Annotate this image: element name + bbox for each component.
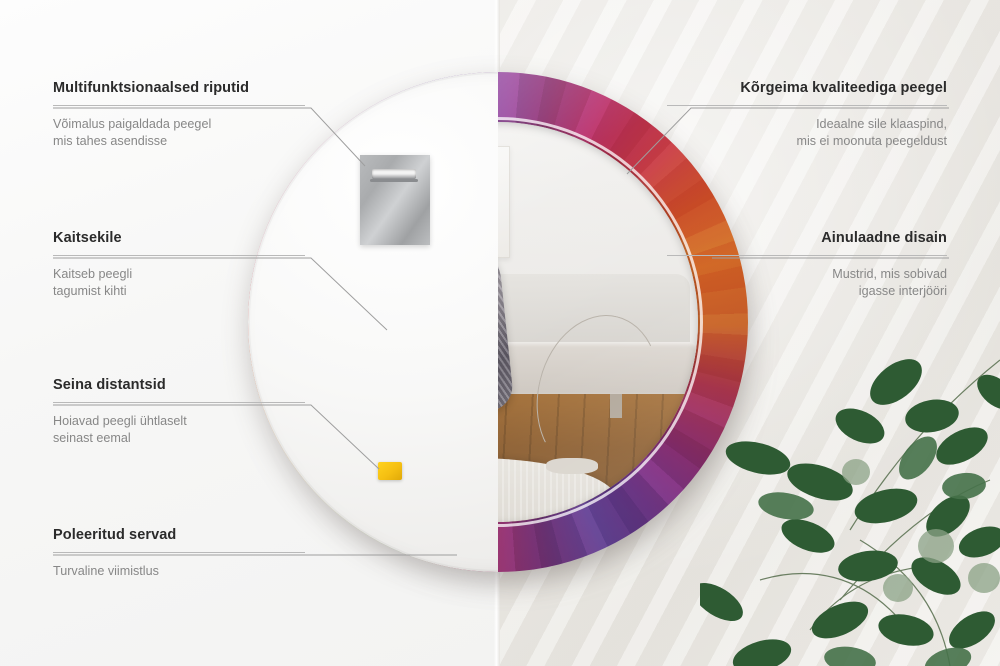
bracket-keyhole-slot — [372, 169, 416, 179]
callout-description: Võimalus paigaldada peegel mis tahes ase… — [53, 116, 305, 150]
bracket-edge-bar — [370, 179, 418, 182]
callout-description: Ideaalne sile klaaspind, mis ei moonuta … — [667, 116, 947, 150]
callout-description: Hoiavad peegli ühtlaselt seinast eemal — [53, 413, 305, 447]
callout-multifunctional-hangers: Multifunktsionaalsed riputid Võimalus pa… — [53, 80, 305, 150]
callout-rule — [667, 255, 947, 256]
callout-rule — [53, 105, 305, 106]
callout-wall-spacers: Seina distantsid Hoiavad peegli ühtlasel… — [53, 377, 305, 447]
wall-spacer-pad — [378, 462, 402, 480]
infographic-stage: Multifunktsionaalsed riputid Võimalus pa… — [0, 0, 1000, 666]
callout-rule — [53, 552, 305, 553]
callout-highest-quality-mirror: Kõrgeima kvaliteediga peegel Ideaalne si… — [667, 80, 947, 150]
callout-description: Kaitseb peegli tagumist kihti — [53, 266, 305, 300]
mounting-bracket-plate — [360, 155, 430, 245]
callout-title: Seina distantsid — [53, 377, 305, 393]
callout-protective-film: Kaitsekile Kaitseb peegli tagumist kihti — [53, 230, 305, 300]
callout-rule — [53, 255, 305, 256]
callout-description: Mustrid, mis sobivad igasse interjööri — [667, 266, 947, 300]
callout-title: Ainulaadne disain — [667, 230, 947, 246]
foliage-decoration — [700, 330, 1000, 666]
callout-title: Poleeritud servad — [53, 527, 305, 543]
callout-description: Turvaline viimistlus — [53, 563, 305, 580]
callout-title: Kõrgeima kvaliteediga peegel — [667, 80, 947, 96]
callout-rule — [53, 402, 305, 403]
callout-unique-design: Ainulaadne disain Mustrid, mis sobivad i… — [667, 230, 947, 300]
callout-polished-edges: Poleeritud servad Turvaline viimistlus — [53, 527, 305, 580]
callout-title: Multifunktsionaalsed riputid — [53, 80, 305, 96]
callout-rule — [667, 105, 947, 106]
callout-title: Kaitsekile — [53, 230, 305, 246]
